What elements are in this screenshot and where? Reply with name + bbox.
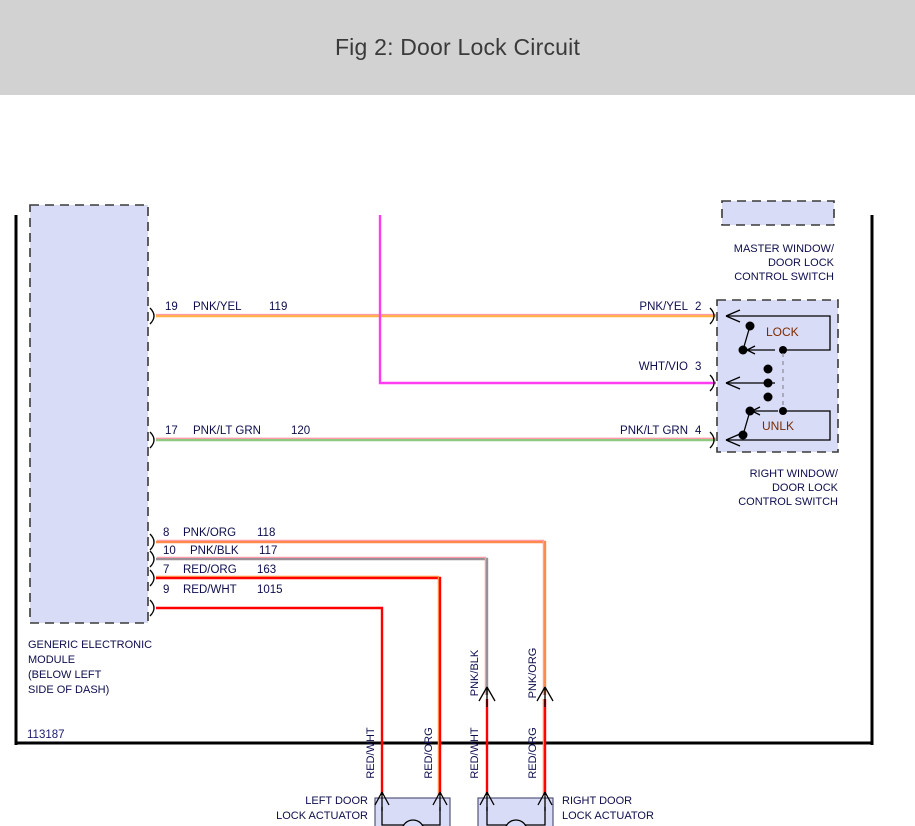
connector-gem-7 xyxy=(150,570,154,586)
circuit-number-1015: 1015 xyxy=(257,584,283,596)
gem-pin-8: 8 xyxy=(163,527,169,539)
ground-dot-top xyxy=(764,365,773,374)
vlabel-pnk-org: PNK/ORG xyxy=(527,648,539,699)
sw-wire-label-wht-vio: WHT/VIO xyxy=(639,361,688,373)
splice-arrow-pnk-org xyxy=(537,687,553,707)
connector-gem-9 xyxy=(150,600,154,616)
wire-label-pnk-blk: PNK/BLK xyxy=(190,545,239,557)
splice-arrow-pnk-blk xyxy=(479,687,495,707)
wire-wht-vio xyxy=(380,215,716,383)
wire-label-red-wht: RED/WHT xyxy=(183,584,237,596)
gem-label-line-3: SIDE OF DASH) xyxy=(28,684,109,696)
unlk-label: UNLK xyxy=(762,419,794,433)
sw-pin-4: 4 xyxy=(695,425,702,437)
wire-red-wht-left xyxy=(156,608,382,795)
right-switch-label-line-2: CONTROL SWITCH xyxy=(738,496,838,508)
diagram-id-number: 113187 xyxy=(27,729,65,741)
sw-wire-label-pnk-ltgrn: PNK/LT GRN xyxy=(620,425,688,437)
vlabel-left-red-wht: RED/WHT xyxy=(365,727,377,779)
wiring-diagram-svg: M M 19 PNK/YEL 119 PNK/YEL 2 WHT/VIO 3 1… xyxy=(0,95,915,826)
right-actuator-label-line-1: LOCK ACTUATOR xyxy=(562,810,654,822)
gem-label-line-2: (BELOW LEFT xyxy=(28,669,102,681)
circuit-number-120: 120 xyxy=(291,425,310,437)
connector-gem-10 xyxy=(150,551,154,567)
wire-pnk-blk-base xyxy=(156,559,487,695)
page-title: Fig 2: Door Lock Circuit xyxy=(335,34,580,61)
vlabel-right-red-org: RED/ORG xyxy=(527,727,539,778)
gem-pin-19: 19 xyxy=(165,301,178,313)
wire-label-pnk-org: PNK/ORG xyxy=(183,527,236,539)
vlabel-left-red-org: RED/ORG xyxy=(423,727,435,778)
master-switch-label-line-0: MASTER WINDOW/ xyxy=(734,243,835,255)
left-actuator-label-line-0: LEFT DOOR xyxy=(305,795,368,807)
vlabel-right-red-wht: RED/WHT xyxy=(469,727,481,779)
circuit-number-117: 117 xyxy=(259,545,277,557)
master-switch-label-line-2: CONTROL SWITCH xyxy=(734,271,834,283)
ground-dot-mid xyxy=(764,379,773,388)
unlk-blade-dot xyxy=(739,431,748,440)
gem-label-line-0: GENERIC ELECTRONIC xyxy=(28,639,152,651)
figure-header: Fig 2: Door Lock Circuit xyxy=(0,0,915,95)
unlk-contact-dot xyxy=(779,407,787,415)
wire-label-pnk-ltgrn: PNK/LT GRN xyxy=(193,425,261,437)
diagram-canvas: M M 19 PNK/YEL 119 PNK/YEL 2 WHT/VIO 3 1… xyxy=(0,95,915,826)
circuit-number-118: 118 xyxy=(257,527,275,539)
right-switch-label-line-0: RIGHT WINDOW/ xyxy=(750,468,839,480)
vlabel-pnk-blk: PNK/BLK xyxy=(469,649,481,696)
left-actuator-label-line-1: LOCK ACTUATOR xyxy=(276,810,368,822)
lock-contact-dot xyxy=(779,346,787,354)
gem-pin-9: 9 xyxy=(163,584,169,596)
wire-red-org-left xyxy=(156,578,440,795)
gem-pin-17: 17 xyxy=(165,425,178,437)
connector-gem-8 xyxy=(150,534,154,550)
lock-label: LOCK xyxy=(766,325,799,339)
right-actuator-label-line-0: RIGHT DOOR xyxy=(562,795,632,807)
ground-dot-bottom xyxy=(764,393,773,402)
connector-gem-17 xyxy=(150,432,154,448)
wire-label-pnk-yel: PNK/YEL xyxy=(193,301,242,313)
wire-label-red-org: RED/ORG xyxy=(183,564,237,576)
gem-pin-10: 10 xyxy=(163,545,176,557)
sw-pin-2: 2 xyxy=(695,301,701,313)
gem-module-box xyxy=(30,205,148,623)
lock-pivot-dot xyxy=(746,322,755,331)
master-switch-box xyxy=(722,201,834,225)
gem-pin-7: 7 xyxy=(163,564,169,576)
circuit-number-119: 119 xyxy=(269,301,287,313)
circuit-number-163: 163 xyxy=(257,564,276,576)
sw-wire-label-pnk-yel: PNK/YEL xyxy=(639,301,688,313)
master-switch-label-line-1: DOOR LOCK xyxy=(768,257,835,269)
right-switch-label-line-1: DOOR LOCK xyxy=(772,482,839,494)
gem-label-line-1: MODULE xyxy=(28,654,75,666)
connector-gem-19 xyxy=(150,308,154,324)
sw-pin-3: 3 xyxy=(695,361,701,373)
